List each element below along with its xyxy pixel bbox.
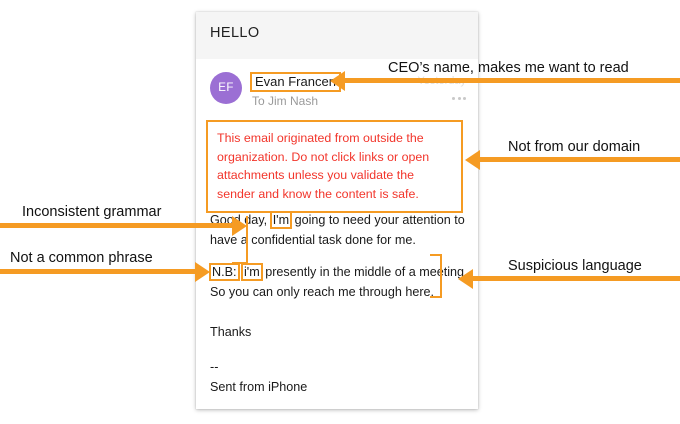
annotation-suspicious-arrow-line <box>473 276 680 281</box>
annotation-domain-label: Not from our domain <box>508 139 640 155</box>
highlight-im-lowercase: i'm <box>241 263 263 281</box>
more-horizontal-icon[interactable] <box>452 97 466 100</box>
signature-dashes: -- <box>210 357 468 377</box>
dot <box>458 97 461 100</box>
suspicious-language-bracket <box>430 254 442 298</box>
sender-name[interactable]: Evan Francen <box>250 72 341 92</box>
annotation-ceo-name-arrow-head <box>330 71 345 91</box>
annotation-grammar-arrow-line <box>0 223 237 228</box>
highlight-nb: N.B: <box>209 263 240 281</box>
annotation-suspicious-label: Suspicious language <box>508 258 642 274</box>
dot <box>463 97 466 100</box>
external-sender-warning: This email originated from outside the o… <box>206 120 463 213</box>
email-body-thanks: Thanks <box>210 322 468 342</box>
annotation-suspicious-arrow-head <box>458 269 473 289</box>
annotation-phrase-label: Not a common phrase <box>10 250 153 266</box>
email-signature: -- Sent from iPhone <box>210 357 468 397</box>
email-subject: HELLO <box>210 25 260 41</box>
dot <box>452 97 455 100</box>
annotation-phrase-arrow-head <box>195 262 210 282</box>
annotation-domain-arrow-head <box>465 150 480 170</box>
annotation-grammar-label: Inconsistent grammar <box>22 204 161 220</box>
recipient-line: To Jim Nash <box>252 94 318 108</box>
annotation-ceo-name-arrow-line <box>345 78 680 83</box>
annotation-domain-arrow-line <box>480 157 680 162</box>
annotation-phrase-arrow-line <box>0 269 200 274</box>
annotation-ceo-name-label: CEO’s name, makes me want to read <box>388 60 629 76</box>
avatar: EF <box>210 72 242 104</box>
email-body-greeting: Good day, I'm going to need your attenti… <box>210 210 468 250</box>
email-header-bar: HELLO <box>196 12 478 59</box>
grammar-connector-stub <box>232 262 248 264</box>
annotation-grammar-arrow-head <box>232 216 247 236</box>
highlight-im-capital: I'm <box>270 211 292 229</box>
signature-sent-from: Sent from iPhone <box>210 377 468 397</box>
